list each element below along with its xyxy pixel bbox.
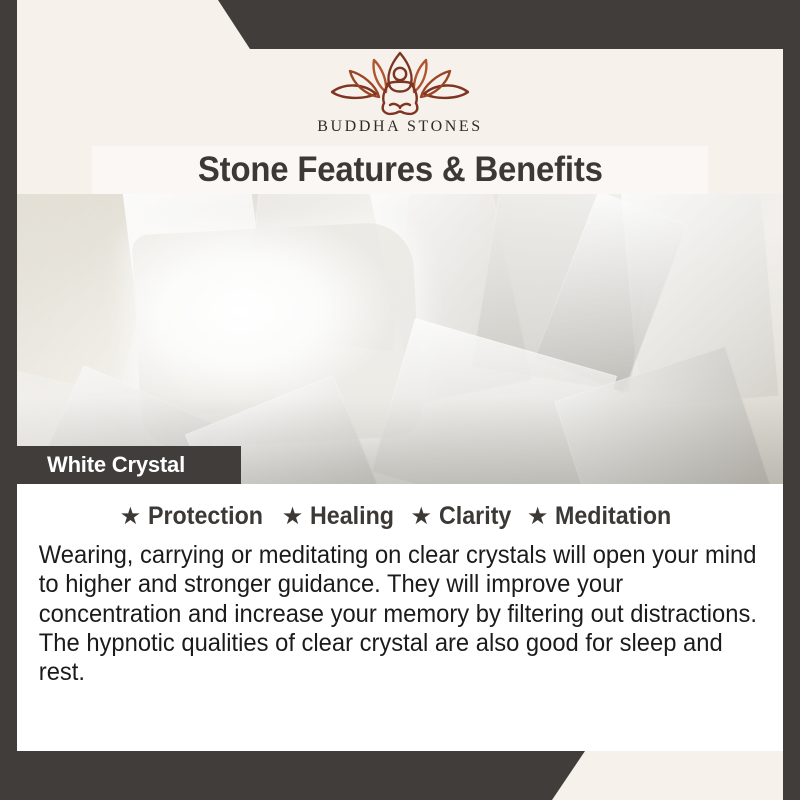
benefit-item-healing: ★ Healing (282, 502, 401, 531)
benefits-row: ★ Protection ★ Healing ★ Clarity ★ Medit… (35, 502, 765, 531)
frame-right-border (783, 0, 800, 800)
benefit-item-clarity: ★ Clarity (411, 502, 517, 531)
frame-bottom-accent (0, 751, 800, 800)
benefit-label: Meditation (555, 502, 671, 531)
page-title: Stone Features & Benefits (198, 150, 603, 190)
benefit-item-meditation: ★ Meditation (527, 502, 681, 531)
photo-sheen-overlay (17, 194, 783, 484)
stone-name-badge: White Crystal (17, 446, 241, 484)
brand-header: BUDDHA STONES (17, 49, 783, 146)
star-icon: ★ (411, 505, 433, 529)
benefit-label: Protection (148, 502, 263, 531)
crystal-photo: White Crystal (17, 194, 783, 484)
description-text: Wearing, carrying or meditating on clear… (35, 541, 763, 687)
title-plate: Stone Features & Benefits (92, 146, 708, 194)
star-icon: ★ (527, 505, 549, 529)
stone-name-label: White Crystal (47, 452, 185, 478)
content-area: ★ Protection ★ Healing ★ Clarity ★ Medit… (17, 484, 783, 751)
star-icon: ★ (282, 505, 304, 529)
inner-canvas: BUDDHA STONES Stone Features & Benefits (17, 49, 783, 751)
star-icon: ★ (120, 505, 142, 529)
benefit-label: Clarity (439, 502, 511, 531)
lotus-meditation-icon (324, 51, 476, 117)
frame-top-accent (0, 0, 800, 49)
frame-left-border (0, 0, 17, 800)
benefit-label: Healing (310, 502, 394, 531)
title-band: Stone Features & Benefits (17, 146, 783, 194)
brand-name: BUDDHA STONES (317, 118, 483, 136)
benefit-item-protection: ★ Protection (120, 502, 272, 531)
infographic-page: BUDDHA STONES Stone Features & Benefits (0, 0, 800, 800)
